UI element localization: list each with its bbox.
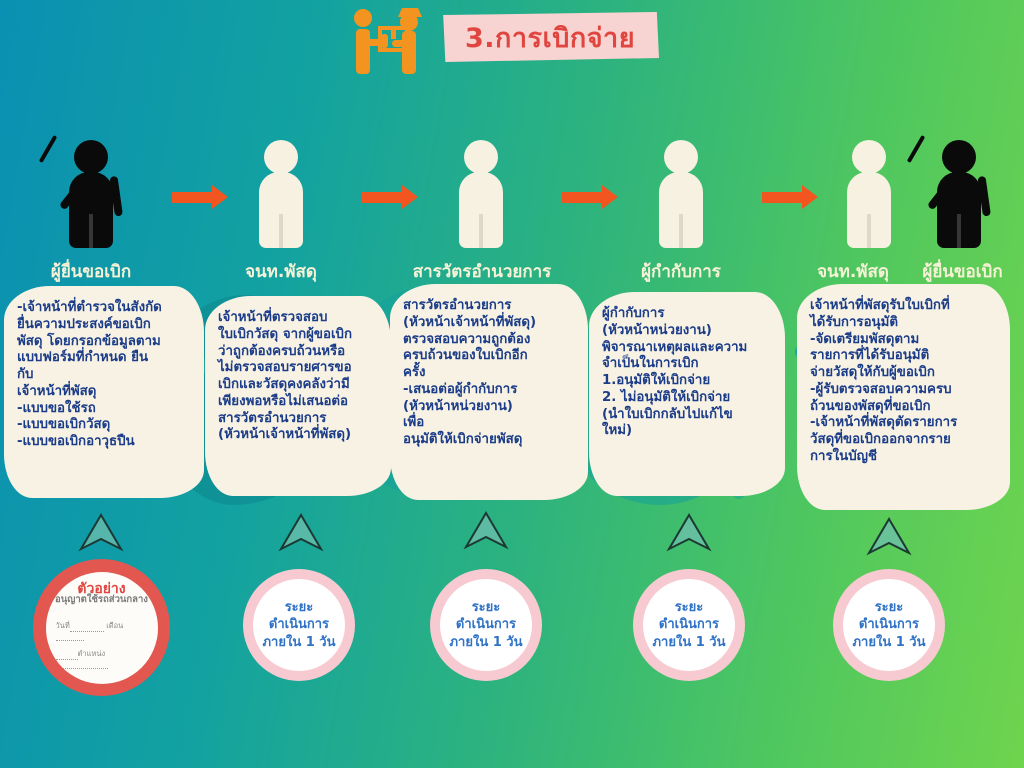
flow-arrow-1 bbox=[172, 192, 216, 203]
person-cream-5 bbox=[840, 140, 898, 248]
flow-arrow-4 bbox=[762, 192, 806, 203]
step-card-body: ผู้กำกับการ (หัวหน้าหน่วยงาน) พิจารณาเหต… bbox=[602, 306, 772, 440]
chevron-up-3 bbox=[463, 510, 509, 550]
step-card-1: -เจ้าหน้าที่ตำรวจในสังกัด ยื่นความประสงค… bbox=[4, 286, 204, 498]
sample-stamp-badge: ตัวอย่าง อนุญาตใช้รถส่วนกลาง วันที่ เดือ… bbox=[33, 559, 170, 696]
stamp-date-label: วันที่ bbox=[56, 621, 70, 630]
delivery-handover-icon bbox=[347, 4, 423, 76]
person-head bbox=[664, 140, 698, 174]
stamp-subtitle: อนุญาตใช้รถส่วนกลาง bbox=[46, 592, 158, 607]
time-badge-5: ระยะ ดำเนินการ ภายใน 1 วัน bbox=[833, 569, 945, 681]
person-cream-3 bbox=[452, 140, 510, 248]
role-label-1: ผู้ยื่นขอเบิก bbox=[45, 258, 137, 285]
stamp-position-label: ตำแหน่ง bbox=[78, 649, 106, 658]
role-label-4: ผู้กำกับการ bbox=[625, 258, 737, 285]
role-label-6: ผู้ยื่นขอเบิก bbox=[905, 258, 1020, 285]
chevron-up-2 bbox=[278, 512, 324, 552]
time-badge-4: ระยะ ดำเนินการ ภายใน 1 วัน bbox=[633, 569, 745, 681]
person-cream-2 bbox=[252, 140, 310, 248]
person-cream-4 bbox=[652, 140, 710, 248]
step-card-body: สารวัตรอำนวยการ (หัวหน้าเจ้าหน้าที่พัสดุ… bbox=[403, 298, 575, 449]
chevron-up-4 bbox=[666, 512, 712, 552]
chevron-up-5 bbox=[866, 516, 912, 556]
page-title: 3.การเบิกจ่าย bbox=[441, 12, 659, 62]
sample-stamp-inner: ตัวอย่าง อนุญาตใช้รถส่วนกลาง วันที่ เดือ… bbox=[46, 572, 158, 684]
step-card-body: เจ้าหน้าที่พัสดุรับใบเบิกที่ ได้รับการอน… bbox=[810, 298, 997, 466]
person-head bbox=[942, 140, 976, 174]
stamp-month-label: เดือน bbox=[106, 621, 123, 630]
person-head bbox=[852, 140, 886, 174]
flow-arrow-2 bbox=[362, 192, 406, 203]
step-card-5: เจ้าหน้าที่พัสดุรับใบเบิกที่ ได้รับการอน… bbox=[797, 284, 1010, 510]
person-leg-split bbox=[957, 214, 961, 248]
time-badge-text: ระยะ ดำเนินการ ภายใน 1 วัน bbox=[843, 579, 935, 671]
pointer-stick bbox=[39, 135, 57, 163]
person-leg-split bbox=[279, 214, 283, 248]
pointer-stick bbox=[907, 135, 925, 163]
time-badge-2: ระยะ ดำเนินการ ภายใน 1 วัน bbox=[243, 569, 355, 681]
person-leg-split bbox=[867, 214, 871, 248]
flow-arrow-3 bbox=[562, 192, 606, 203]
role-label-3: สารวัตรอำนวยการ bbox=[396, 258, 568, 285]
header: 3.การเบิกจ่าย bbox=[0, 0, 1024, 78]
person-black-pointing-6 bbox=[930, 140, 988, 248]
stamp-date-row: วันที่ เดือน bbox=[56, 620, 148, 641]
person-leg-split bbox=[479, 214, 483, 248]
person-head bbox=[464, 140, 498, 174]
step-card-body: -เจ้าหน้าที่ตำรวจในสังกัด ยื่นความประสงค… bbox=[17, 300, 191, 451]
step-card-3: สารวัตรอำนวยการ (หัวหน้าเจ้าหน้าที่พัสดุ… bbox=[390, 284, 588, 500]
step-card-body: เจ้าหน้าที่ตรวจสอบ ใบเบิกวัสดุ จากผู้ขอเ… bbox=[218, 310, 378, 444]
step-card-4: ผู้กำกับการ (หัวหน้าหน่วยงาน) พิจารณาเหต… bbox=[589, 292, 785, 496]
infographic-canvas: 3.การเบิกจ่าย bbox=[0, 0, 1024, 768]
person-leg-split bbox=[89, 214, 93, 248]
person-black-pointing-1 bbox=[62, 140, 120, 248]
time-badge-3: ระยะ ดำเนินการ ภายใน 1 วัน bbox=[430, 569, 542, 681]
person-leg-split bbox=[679, 214, 683, 248]
time-badge-text: ระยะ ดำเนินการ ภายใน 1 วัน bbox=[643, 579, 735, 671]
chevron-up-1 bbox=[78, 512, 124, 552]
person-head bbox=[264, 140, 298, 174]
time-badge-text: ระยะ ดำเนินการ ภายใน 1 วัน bbox=[440, 579, 532, 671]
step-card-2: เจ้าหน้าที่ตรวจสอบ ใบเบิกวัสดุ จากผู้ขอเ… bbox=[205, 296, 391, 496]
time-badge-text: ระยะ ดำเนินการ ภายใน 1 วัน bbox=[253, 579, 345, 671]
stamp-position-row: ตำแหน่ง bbox=[56, 648, 148, 669]
role-label-2: จนท.พัสดุ bbox=[226, 258, 336, 285]
role-label-5: จนท.พัสดุ bbox=[800, 258, 906, 285]
person-head bbox=[74, 140, 108, 174]
